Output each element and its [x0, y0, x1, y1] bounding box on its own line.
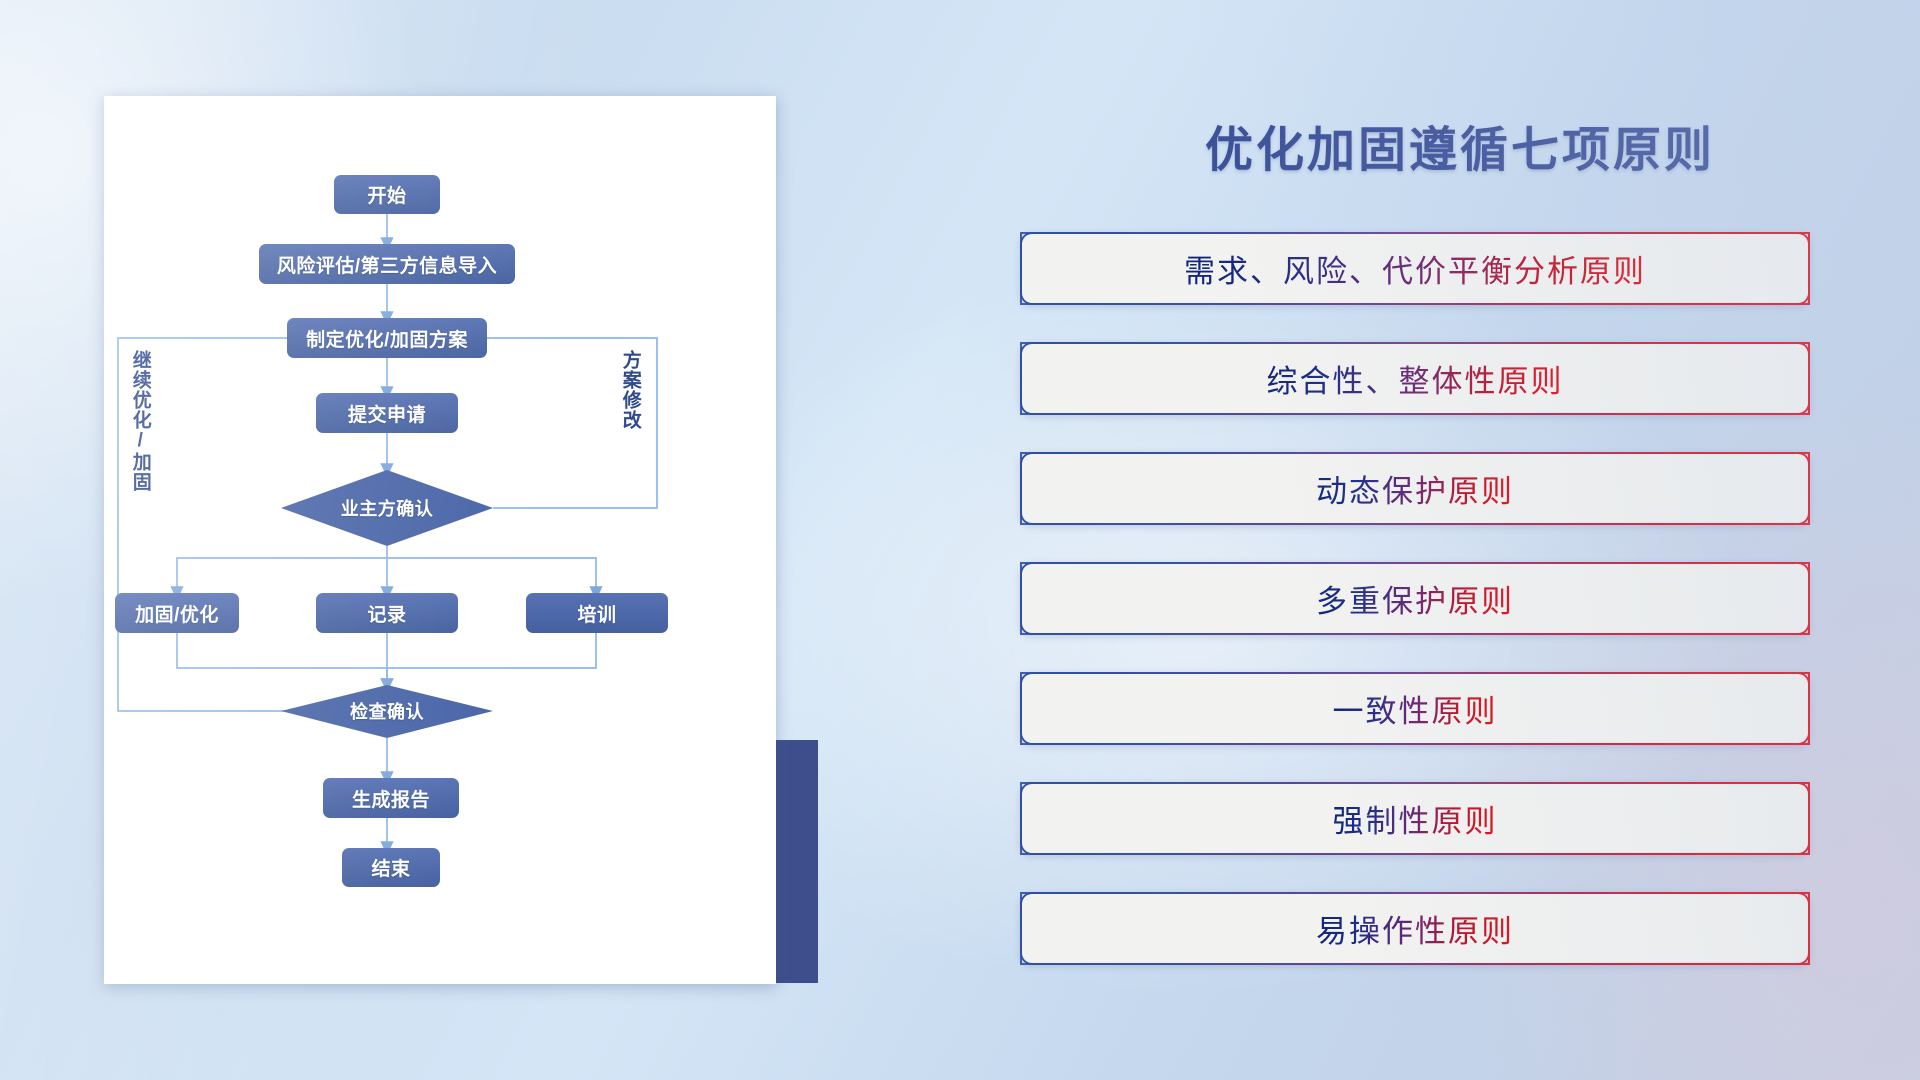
flow-edge-label-left: 继续优化/加固 [130, 350, 150, 492]
flowchart-svg [104, 96, 776, 984]
page-title: 优化加固遵循七项原则 [1020, 110, 1900, 180]
flow-edge-label-right: 方案修改 [620, 350, 640, 430]
principle-card-3[interactable]: 动态保护原则 [1020, 452, 1810, 525]
principle-card-7[interactable]: 易操作性原则 [1020, 892, 1810, 965]
principle-card-4[interactable]: 多重保护原则 [1020, 562, 1810, 635]
principles-panel: 优化加固遵循七项原则 需求、风险、代价平衡分析原则 综合性、整体性原则 动态保护… [1020, 0, 1920, 1080]
principle-label: 强制性原则 [1333, 796, 1498, 841]
principle-card-5[interactable]: 一致性原则 [1020, 672, 1810, 745]
principles-list: 需求、风险、代价平衡分析原则 综合性、整体性原则 动态保护原则 多重保护原则 一… [1020, 232, 1820, 1002]
principle-card-6[interactable]: 强制性原则 [1020, 782, 1810, 855]
flowchart-canvas [104, 96, 776, 984]
principle-label: 综合性、整体性原则 [1267, 356, 1564, 401]
principle-label: 一致性原则 [1333, 686, 1498, 731]
principle-card-1[interactable]: 需求、风险、代价平衡分析原则 [1020, 232, 1810, 305]
slide-root: 开始 风险评估/第三方信息导入 制定优化/加固方案 提交申请 业主方确认 加固/… [0, 0, 1920, 1080]
principle-label: 需求、风险、代价平衡分析原则 [1184, 246, 1646, 291]
principle-label: 易操作性原则 [1316, 906, 1514, 951]
flowchart-card: 开始 风险评估/第三方信息导入 制定优化/加固方案 提交申请 业主方确认 加固/… [104, 96, 776, 984]
principle-card-2[interactable]: 综合性、整体性原则 [1020, 342, 1810, 415]
principle-label: 动态保护原则 [1316, 466, 1514, 511]
principle-label: 多重保护原则 [1316, 576, 1514, 621]
flowchart-panel: 开始 风险评估/第三方信息导入 制定优化/加固方案 提交申请 业主方确认 加固/… [0, 0, 860, 1080]
